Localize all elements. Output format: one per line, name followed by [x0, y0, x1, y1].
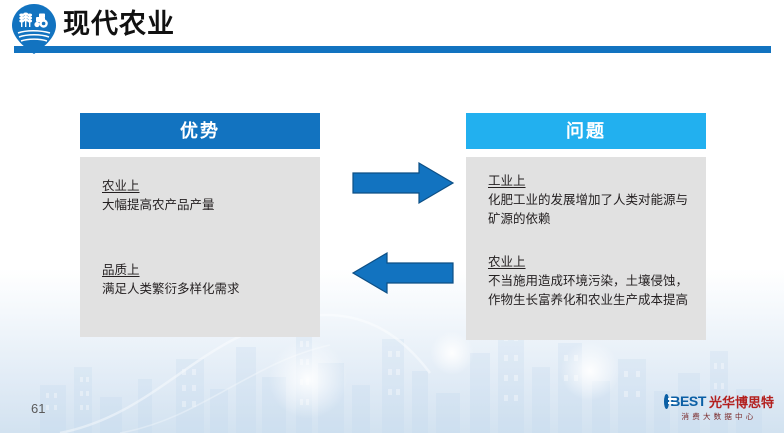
- right-block-2-kicker: 农业上: [488, 253, 688, 272]
- brand-logo: BEST 光华博思特 消费大数据中心: [664, 392, 774, 422]
- brand-subtitle: 消费大数据中心: [664, 411, 774, 422]
- right-block-1-kicker: 工业上: [488, 172, 688, 191]
- left-block-1-body: 大幅提高农产品产量: [102, 196, 314, 215]
- right-column-heading: 问题: [466, 113, 706, 149]
- right-block-2: 农业上 不当施用造成环境污染，土壤侵蚀，作物生长富养化和农业生产成本提高: [488, 253, 688, 310]
- glow-highlight: [268, 339, 348, 419]
- left-block-1: 农业上 大幅提高农产品产量: [102, 177, 314, 215]
- right-block-1-body: 化肥工业的发展增加了人类对能源与矿源的依赖: [488, 191, 688, 229]
- right-block-1: 工业上 化肥工业的发展增加了人类对能源与矿源的依赖: [488, 172, 688, 229]
- right-block-2-body: 不当施用造成环境污染，土壤侵蚀，作物生长富养化和农业生产成本提高: [488, 272, 688, 310]
- arrow-right-icon: [351, 161, 455, 205]
- title-underline-rule: [14, 46, 771, 53]
- arrow-left-icon: [351, 251, 455, 295]
- page-title: 现代农业: [63, 7, 175, 41]
- best-logo-icon: [664, 394, 669, 409]
- left-column-heading: 优势: [80, 113, 320, 149]
- left-column-body: 农业上 大幅提高农产品产量 品质上 满足人类繁衍多样化需求: [80, 157, 320, 337]
- left-block-2-body: 满足人类繁衍多样化需求: [102, 280, 314, 299]
- brand-latin-text: BEST: [670, 393, 706, 409]
- right-column-body: 工业上 化肥工业的发展增加了人类对能源与矿源的依赖 农业上 不当施用造成环境污染…: [466, 157, 706, 340]
- glow-highlight: [560, 341, 620, 401]
- left-block-2-kicker: 品质上: [102, 261, 314, 280]
- slide: 现代农业 优势 农业上 大幅提高农产品产量 品质上 满足人类繁衍多样化需求 问题…: [0, 0, 784, 433]
- brand-primary-row: BEST 光华博思特: [664, 392, 774, 410]
- left-block-1-kicker: 农业上: [102, 177, 314, 196]
- left-block-2: 品质上 满足人类繁衍多样化需求: [102, 261, 314, 299]
- page-number: 61: [31, 401, 45, 416]
- brand-cn-text: 光华博思特: [709, 392, 774, 411]
- slide-header: 现代农业: [0, 0, 784, 52]
